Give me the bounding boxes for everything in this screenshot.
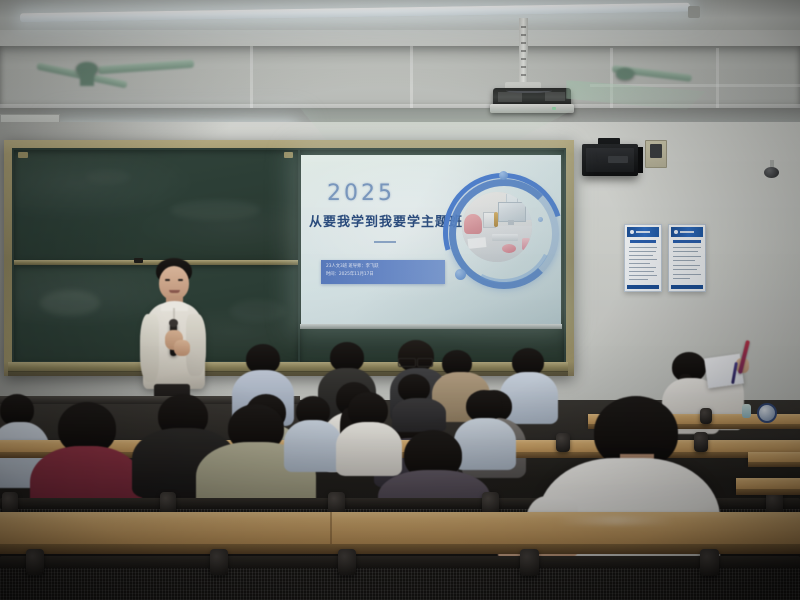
presenter-eye xyxy=(178,279,183,281)
poster-text-line xyxy=(673,251,698,252)
wall-poster[interactable] xyxy=(668,224,706,292)
desk-edge xyxy=(736,489,800,495)
poster-text-line xyxy=(629,275,657,276)
projection-screen: 2025 从要我学到我要学主题班会 23人文3班 班导师：李飞跃 时间：2025… xyxy=(301,155,561,325)
projector-vent xyxy=(545,92,565,101)
student-torso xyxy=(284,420,342,472)
desk-highlight xyxy=(556,516,676,525)
seat-divider-knob xyxy=(26,549,44,575)
classroom-photo: 2025 从要我学到我要学主题班会 23人文3班 班导师：李飞跃 时间：2025… xyxy=(0,0,800,600)
presenter-eye xyxy=(165,279,170,281)
desk-row-front xyxy=(0,512,800,556)
chalk-smudge xyxy=(40,290,100,316)
chalk-smudge xyxy=(170,200,260,220)
desk-right-stack xyxy=(736,478,800,496)
poster-header xyxy=(627,227,659,237)
ceiling-fan-motor xyxy=(80,70,94,86)
poster-text-line xyxy=(629,251,656,252)
security-camera xyxy=(764,167,779,178)
poster-title-bar xyxy=(630,240,656,243)
seat-back-front xyxy=(0,556,800,600)
presenter-head xyxy=(159,266,189,300)
wall-poster[interactable] xyxy=(624,224,662,292)
speaker-badge xyxy=(608,156,628,163)
poster-footer xyxy=(671,285,703,289)
poster-text-line xyxy=(673,274,701,275)
student-torso xyxy=(336,422,402,476)
desk-divider-knob xyxy=(160,492,176,514)
ceiling-beam xyxy=(716,48,719,108)
board-clip[interactable] xyxy=(284,152,293,158)
screen-bottom-bar xyxy=(300,324,562,329)
ceiling-fan-hub xyxy=(616,68,634,80)
student-glasses xyxy=(417,358,433,367)
desk-divider-knob xyxy=(2,492,18,514)
projector-vent xyxy=(498,92,522,102)
poster-text-line xyxy=(629,271,654,272)
wall-junction-box xyxy=(645,140,667,168)
poster-text-line xyxy=(673,269,697,270)
poster-logo-icon xyxy=(630,230,634,234)
poster-text-line xyxy=(629,247,657,248)
microphone-head xyxy=(169,319,178,327)
poster-logo-text xyxy=(636,231,650,233)
student-glasses xyxy=(398,358,416,367)
poster-title-bar xyxy=(673,240,701,243)
projector-pole-holes xyxy=(521,26,526,76)
seat-divider-knob xyxy=(700,549,719,576)
desk-edge xyxy=(748,462,800,467)
desk-seam xyxy=(330,512,332,546)
poster-text-line xyxy=(629,263,650,264)
screen-shading xyxy=(301,155,561,325)
poster-header xyxy=(671,227,703,237)
poster-logo-text xyxy=(680,231,694,233)
projector-cable xyxy=(506,87,552,93)
poster-text-line xyxy=(673,265,700,266)
poster-footer xyxy=(627,285,659,289)
poster-text-line xyxy=(629,259,657,260)
board-clip[interactable] xyxy=(18,152,28,158)
wall-junction-inset xyxy=(650,144,662,158)
seat-divider-knob xyxy=(338,549,356,575)
ceiling-beam xyxy=(250,46,253,108)
ceiling-beam xyxy=(410,46,413,108)
poster-text-line xyxy=(629,279,648,280)
poster-text-line xyxy=(629,267,656,268)
poster-text-line xyxy=(673,278,690,279)
desk-surface xyxy=(0,512,800,546)
chalk-smudge xyxy=(86,170,130,184)
poster-text-line xyxy=(629,255,653,256)
seat-divider-knob xyxy=(520,549,539,576)
poster-text-line xyxy=(673,260,695,261)
wall-speaker xyxy=(582,144,638,176)
chalk-smudge xyxy=(230,300,286,322)
poster-text-line xyxy=(673,247,701,248)
tube-end-cap xyxy=(688,6,700,18)
presenter-mouth xyxy=(169,290,180,293)
desk-right-stack xyxy=(748,452,800,468)
speaker-side xyxy=(638,147,643,173)
poster-text-line xyxy=(673,256,701,257)
desk-edge xyxy=(0,544,800,554)
seat-mesh-panel xyxy=(0,568,800,600)
poster-logo-icon xyxy=(674,230,678,234)
seat-divider-knob xyxy=(210,549,228,575)
